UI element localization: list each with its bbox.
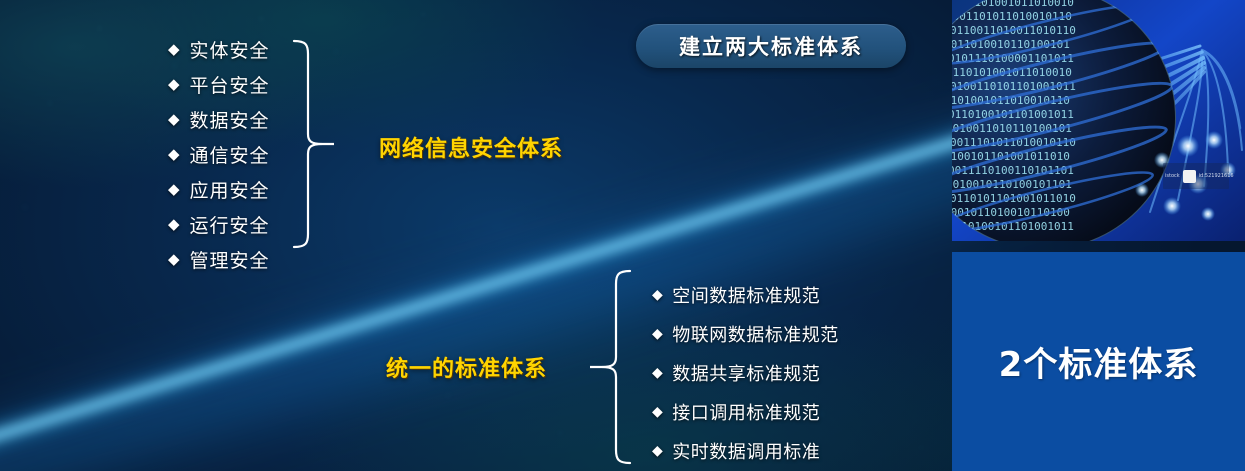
list-item: ◆ 运行安全 [168,207,270,242]
svg-text:1001101011010010110: 1001101011010010110 [952,10,1072,23]
slide-canvas: 建立两大标准体系 ◆ 实体安全 ◆ 平台安全 ◆ 数据安全 ◆ 通信安全 ◆ 应… [0,0,1245,471]
svg-text:0110100101101001011: 0110100101101001011 [952,108,1074,121]
watermark-brand: istock [1165,173,1180,179]
list-item: ◆ 数据安全 [168,102,270,137]
security-items-list: ◆ 实体安全 ◆ 平台安全 ◆ 数据安全 ◆ 通信安全 ◆ 应用安全 ◆ 运行安… [168,32,270,277]
list-item: ◆ 实体安全 [168,32,270,67]
title-badge-label: 建立两大标准体系 [679,31,863,61]
diamond-bullet-icon: ◆ [652,366,663,380]
diamond-bullet-icon: ◆ [168,182,181,197]
list-item-label: 数据安全 [190,106,270,133]
list-item: ◆ 接口调用标准规范 [652,392,839,431]
diamond-bullet-icon: ◆ [168,112,181,127]
list-item-label: 平台安全 [190,71,270,98]
diamond-bullet-icon: ◆ [168,42,181,57]
list-item-label: 接口调用标准规范 [672,399,820,425]
standards-brace-icon [590,268,632,466]
standards-section-label: 统一的标准体系 [386,351,547,383]
diamond-bullet-icon: ◆ [652,288,663,302]
diamond-bullet-icon: ◆ [652,444,663,458]
diamond-bullet-icon: ◆ [168,217,181,232]
diamond-bullet-icon: ◆ [652,327,663,341]
list-item-label: 通信安全 [190,141,270,168]
standards-items-list: ◆ 空间数据标准规范 ◆ 物联网数据标准规范 ◆ 数据共享标准规范 ◆ 接口调用… [652,275,839,470]
title-badge: 建立两大标准体系 [636,24,906,68]
list-item: ◆ 物联网数据标准规范 [652,314,839,353]
list-item: ◆ 实时数据调用标准 [652,431,839,470]
security-section-label: 网络信息安全体系 [379,131,563,163]
getty-watermark: istock id:521921616 [1163,163,1229,189]
list-item: ◆ 通信安全 [168,137,270,172]
list-item-label: 应用安全 [190,176,270,203]
diamond-bullet-icon: ◆ [168,252,181,267]
list-item-label: 数据共享标准规范 [672,360,820,386]
list-item-label: 管理安全 [190,246,270,273]
list-item: ◆ 应用安全 [168,172,270,207]
list-item-label: 运行安全 [190,211,270,238]
list-item: ◆ 数据共享标准规范 [652,353,839,392]
list-item: ◆ 平台安全 [168,67,270,102]
diamond-bullet-icon: ◆ [168,77,181,92]
list-item-label: 实时数据调用标准 [672,438,820,464]
watermark-id: id:521921616 [1199,173,1234,179]
security-brace-icon [292,38,334,250]
list-item-label: 实体安全 [190,36,270,63]
list-item: ◆ 空间数据标准规范 [652,275,839,314]
caption-label: 2个标准体系 [999,337,1199,386]
binary-globe-fiber-optics-image: 0110101001011010010 1001101011010010110 … [952,0,1245,241]
caption-panel: 2个标准体系 [952,252,1245,471]
diamond-bullet-icon: ◆ [652,405,663,419]
list-item-label: 物联网数据标准规范 [672,321,839,347]
list-item-label: 空间数据标准规范 [672,282,820,308]
diamond-bullet-icon: ◆ [168,147,181,162]
list-item: ◆ 管理安全 [168,242,270,277]
watermark-mark-icon [1183,170,1196,183]
right-column: 0110101001011010010 1001101011010010110 … [952,0,1245,471]
